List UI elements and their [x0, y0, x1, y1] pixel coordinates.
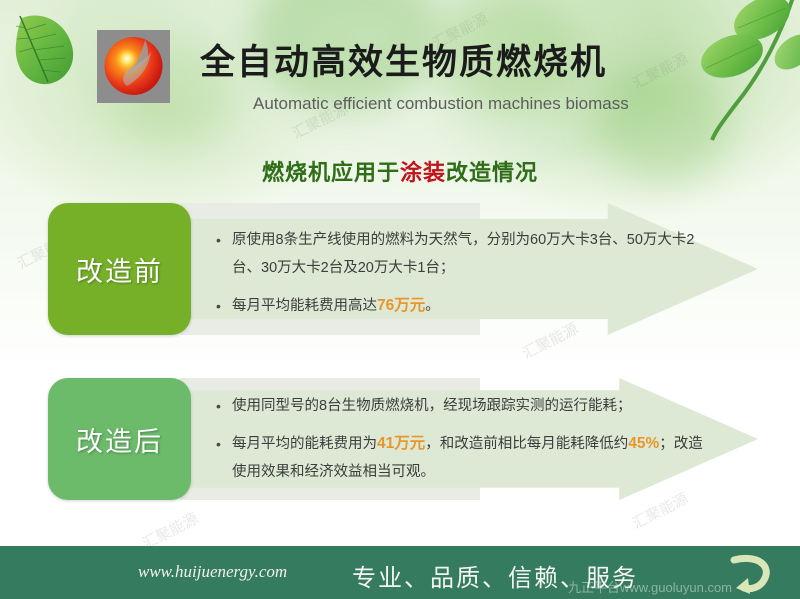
row-label-after: 改造后: [48, 378, 191, 500]
footer-slogan: 专业、品质、信赖、服务: [352, 558, 638, 593]
row-label-text: 改造后: [76, 420, 163, 459]
row-bullets-after: 使用同型号的8台生物质燃烧机，经现场跟踪实测的运行能耗； 每月平均的能耗费用为4…: [216, 378, 706, 500]
slide-root: 汇聚能源 汇聚能源 汇聚能源 汇聚能源 汇聚能源 汇聚能源 汇聚能源: [0, 0, 800, 599]
page-title: 全自动高效生物质燃烧机: [200, 34, 607, 85]
section-heading-part1: 燃烧机应用于: [262, 160, 400, 185]
curved-arrow-icon: [724, 552, 776, 594]
row-label-text: 改造前: [76, 250, 163, 289]
bullet-item: 每月平均的能耗费用为41万元，和改造前相比每月能耗降低约45%；改造使用效果和经…: [216, 430, 706, 486]
bullet-text-tail: 。: [425, 298, 440, 314]
bullet-item: 使用同型号的8台生物质燃烧机，经现场跟踪实测的运行能耗；: [216, 392, 706, 420]
bullet-text: 每月平均能耗费用高达: [232, 298, 377, 314]
page-subtitle: Automatic efficient combustion machines …: [253, 94, 629, 114]
bullet-text-mid: ，和改造前相比每月能耗降低约: [425, 436, 628, 452]
leaf-icon: [8, 6, 82, 92]
row-bullets-before: 原使用8条生产线使用的燃料为天然气，分别为60万大卡3台、50万大卡2台、30万…: [216, 203, 706, 339]
section-heading: 燃烧机应用于涂装改造情况: [0, 155, 800, 187]
bullet-highlight: 76万元: [377, 297, 425, 314]
bullet-highlight-2: 45%: [628, 435, 659, 452]
leaf-branch-icon: [654, 0, 800, 164]
row-label-before: 改造前: [48, 203, 191, 335]
flame-circle-logo-icon: [97, 30, 170, 103]
section-heading-highlight: 涂装: [400, 160, 446, 185]
footer-website-url[interactable]: www.huijuenergy.com: [138, 562, 287, 582]
brand-logo: [97, 30, 170, 103]
section-heading-part2: 改造情况: [446, 160, 538, 185]
bullet-item: 原使用8条生产线使用的燃料为天然气，分别为60万大卡3台、50万大卡2台、30万…: [216, 226, 706, 282]
bullet-item: 每月平均能耗费用高达76万元。: [216, 292, 706, 320]
bullet-text: 原使用8条生产线使用的燃料为天然气，分别为60万大卡3台、50万大卡2台、30万…: [232, 232, 694, 276]
footer-bar: www.huijuenergy.com 专业、品质、信赖、服务: [0, 546, 800, 599]
bullet-text: 每月平均的能耗费用为: [232, 436, 377, 452]
bullet-highlight: 41万元: [377, 435, 425, 452]
bullet-text: 使用同型号的8台生物质燃烧机，经现场跟踪实测的运行能耗；: [232, 398, 632, 414]
comparison-row-before: 改造前 原使用8条生产线使用的燃料为天然气，分别为60万大卡3台、50万大卡2台…: [48, 203, 758, 335]
comparison-row-after: 改造后 使用同型号的8台生物质燃烧机，经现场跟踪实测的运行能耗； 每月平均的能耗…: [48, 378, 758, 500]
